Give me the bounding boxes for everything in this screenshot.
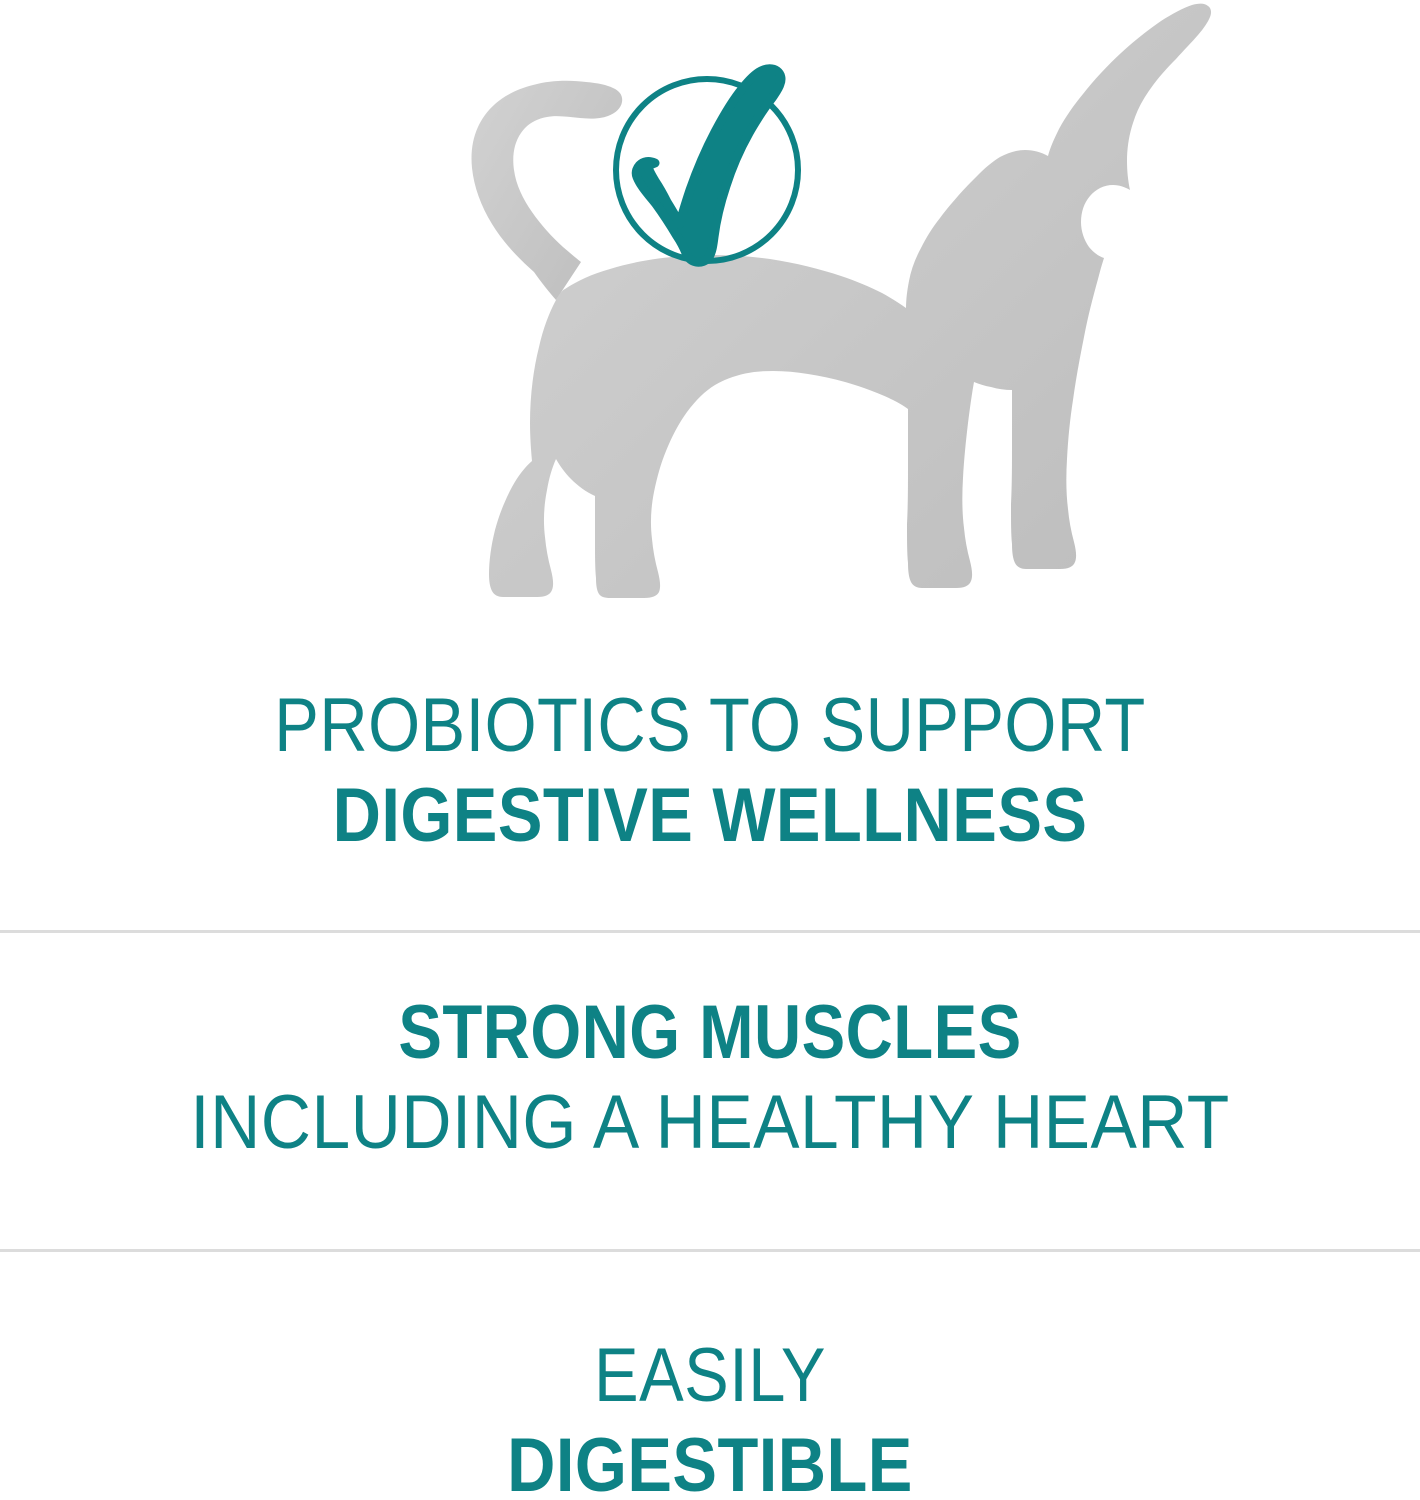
claim-digestive-wellness: PROBIOTICS TO SUPPORT DIGESTIVE WELLNESS — [0, 688, 1420, 854]
claim-muscles-line-2: INCLUDING A HEALTHY HEART — [60, 1085, 1359, 1161]
claim-easily-digestible: EASILY DIGESTIBLE — [0, 1338, 1420, 1500]
check-circle-svg — [0, 0, 1420, 640]
claim-easily-line-1: EASILY — [85, 1338, 1335, 1414]
divider-1 — [0, 930, 1420, 933]
divider-2 — [0, 1249, 1420, 1252]
claim-easily-line-2: DIGESTIBLE — [85, 1428, 1335, 1500]
dog-with-checkmark-illustration — [0, 0, 1420, 640]
product-benefits-panel: PROBIOTICS TO SUPPORT DIGESTIVE WELLNESS… — [0, 0, 1420, 1500]
check-circle-icon — [616, 69, 798, 263]
claim-muscles-line-1: STRONG MUSCLES — [99, 995, 1320, 1071]
claim-digestive-line-2: DIGESTIVE WELLNESS — [85, 778, 1335, 854]
claim-digestive-line-1: PROBIOTICS TO SUPPORT — [85, 688, 1335, 764]
claim-strong-muscles: STRONG MUSCLES INCLUDING A HEALTHY HEART — [0, 995, 1420, 1161]
